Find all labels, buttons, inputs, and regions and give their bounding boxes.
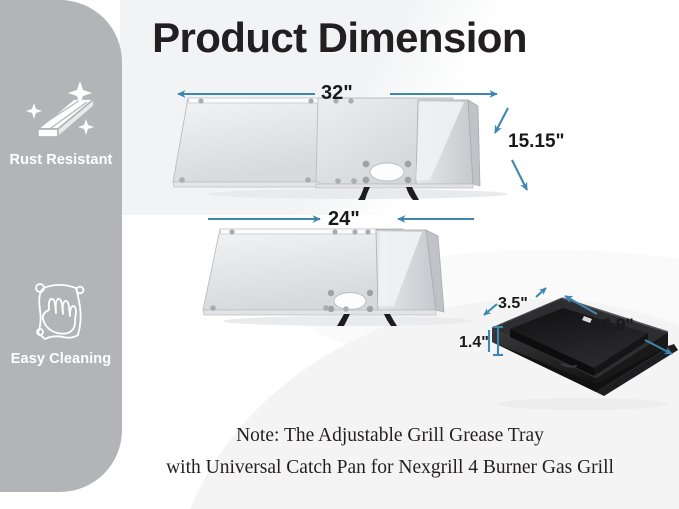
dimension-label-pan-height-14: 1.4" xyxy=(459,334,489,352)
product-image-tray-retracted xyxy=(198,222,488,332)
feature-rust-resistant: Rust Resistant xyxy=(0,78,122,168)
feature-label: Rust Resistant xyxy=(0,152,122,168)
dimension-label-width-24: 24" xyxy=(328,208,360,231)
feature-sidebar: Rust Resistant xyxy=(0,0,122,492)
page-title: Product Dimension xyxy=(0,14,679,62)
easy-cleaning-hand-cloth-icon xyxy=(0,277,122,349)
dimension-label-depth-15: 15.15" xyxy=(508,131,565,153)
note-line-2: with Universal Catch Pan for Nexgrill 4 … xyxy=(110,452,670,484)
product-image-tray-extended xyxy=(168,92,528,205)
note-line-1: Note: The Adjustable Grill Grease Tray xyxy=(110,420,670,452)
rust-resistant-plate-icon xyxy=(0,78,122,150)
product-dimension-infographic: Rust Resistant xyxy=(0,0,679,509)
dimension-label-width-32: 32" xyxy=(321,82,353,105)
product-note: Note: The Adjustable Grill Grease Tray w… xyxy=(110,420,670,483)
dimension-label-pan-width-35: 3.5" xyxy=(498,295,528,313)
dimension-label-pan-length-69: 6.9" xyxy=(602,315,634,335)
feature-easy-cleaning: Easy Cleaning xyxy=(0,277,122,367)
feature-label: Easy Cleaning xyxy=(0,351,122,367)
